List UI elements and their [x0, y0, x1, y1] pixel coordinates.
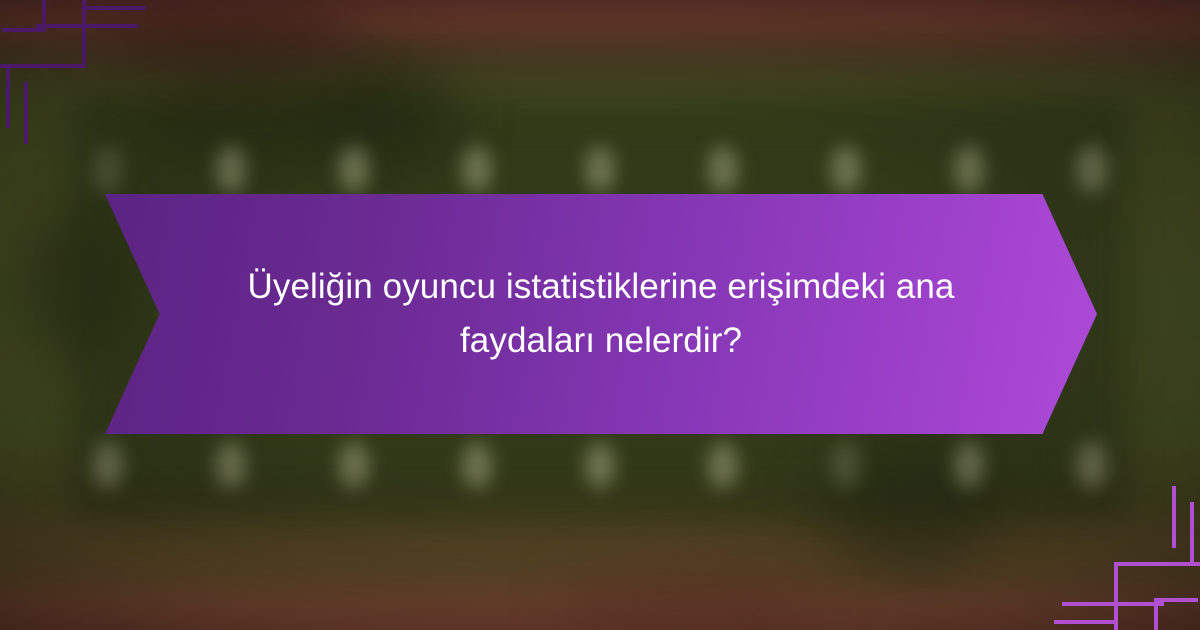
question-text: Üyeliğin oyuncu istatistiklerine erişimd… [166, 260, 1036, 369]
question-banner: Üyeliğin oyuncu istatistiklerine erişimd… [105, 194, 1097, 434]
question-card: Üyeliğin oyuncu istatistiklerine erişimd… [0, 0, 1200, 630]
